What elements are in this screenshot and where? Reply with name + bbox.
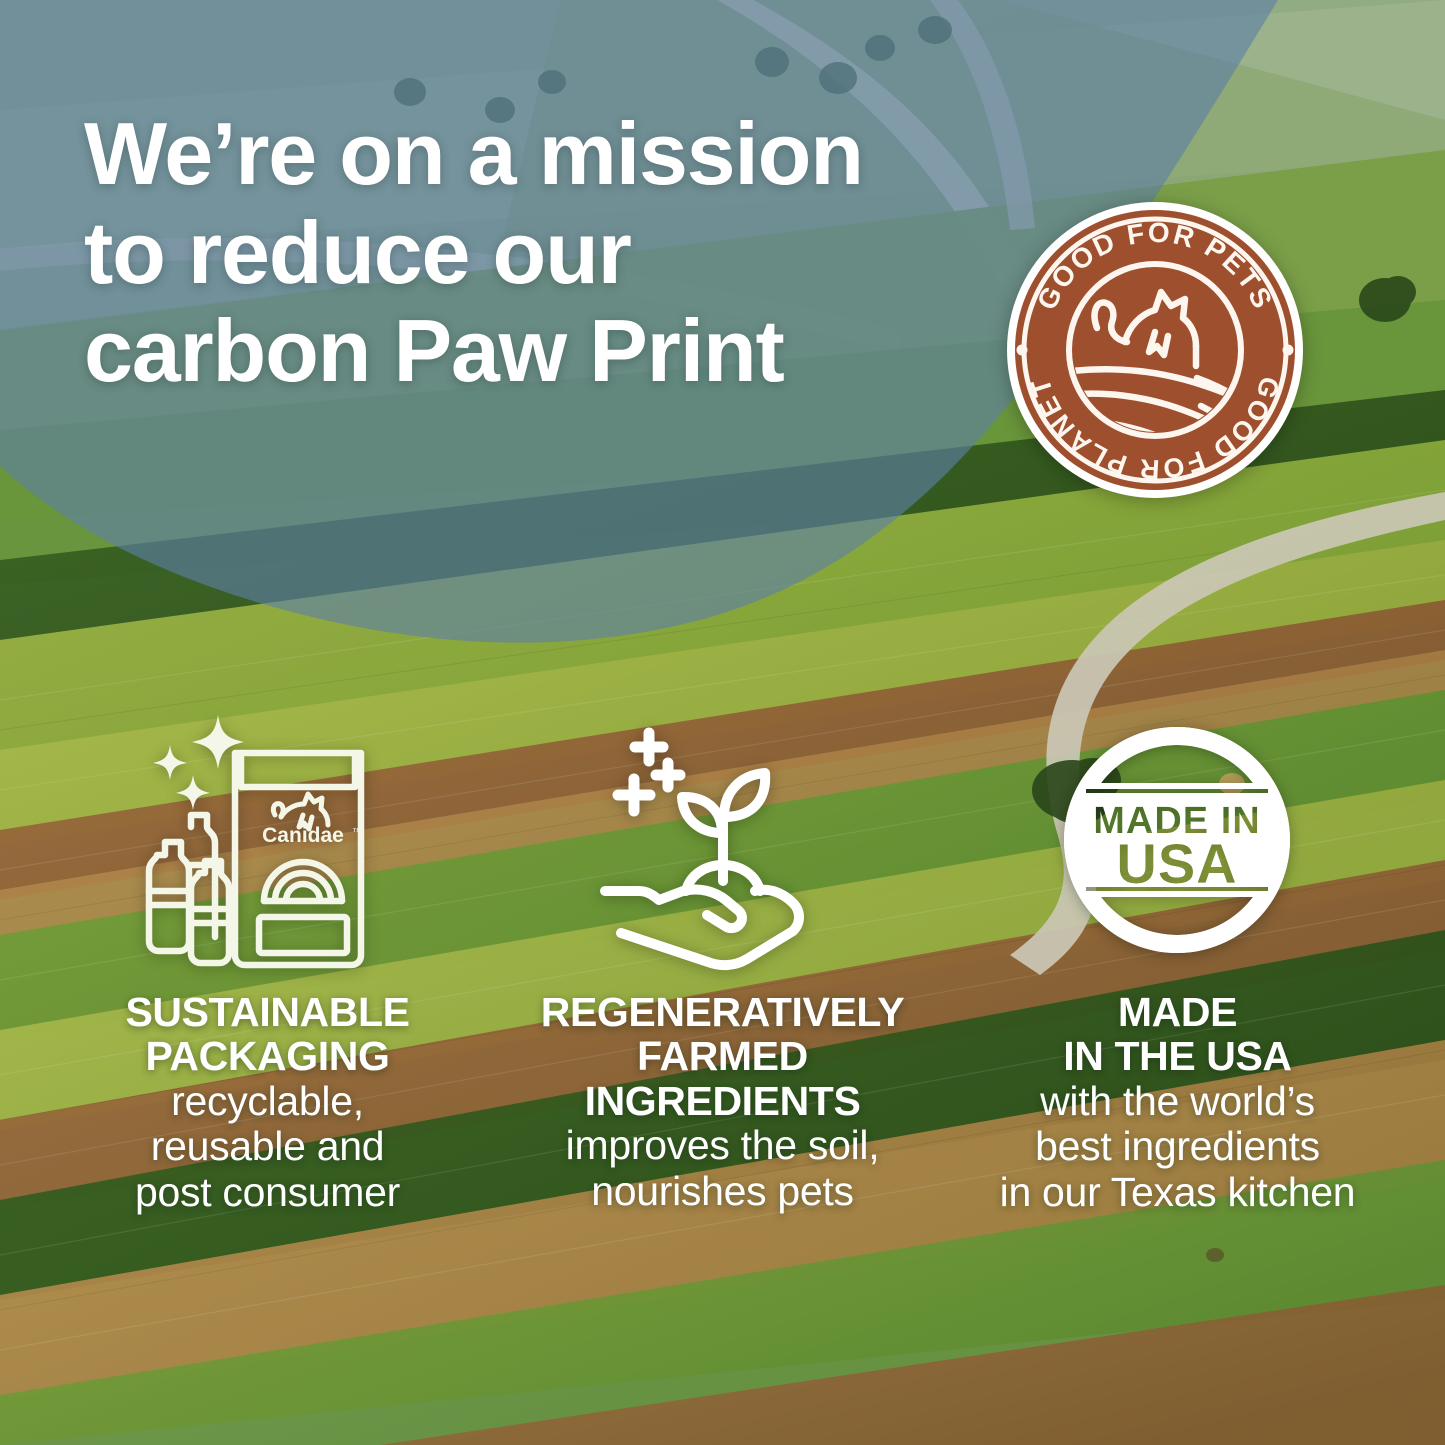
feature-title-1: SUSTAINABLE PACKAGING [125,990,409,1079]
svg-text:™: ™ [352,827,362,838]
headline-line-1: We’re on a mission [84,105,984,204]
feature-column-made-in-usa: MADE IN USA MADE IN THE USA with the wor… [950,690,1405,1216]
feature-column-regeneratively-farmed: REGENERATIVELY FARMED INGREDIENTS improv… [495,690,950,1215]
made-in-usa-badge-icon: MADE IN USA [1052,690,1302,990]
promo-banner: We’re on a mission to reduce our carbon … [0,0,1445,1445]
canidae-wordmark: Canidae [262,824,344,847]
sustainable-packaging-icon: Canidae ™ [123,690,413,990]
feature-title-2: REGENERATIVELY FARMED INGREDIENTS [541,990,904,1123]
feature-body-3: with the world’s best ingredients in our… [1000,1079,1356,1217]
sparkle-small [176,775,210,810]
feature-body-1: recyclable, reusable and post consumer [125,1079,409,1217]
hand-holding-seedling-icon [587,690,857,990]
seal-dot-right [1283,345,1294,356]
sparkle-plus-group [618,733,680,811]
feature-columns: Canidae ™ SUSTAINABLE PACKAGING recyclab… [0,690,1445,1216]
feature-column-sustainable-packaging: Canidae ™ SUSTAINABLE PACKAGING recyclab… [40,690,495,1216]
headline-line-3: carbon Paw Print [84,302,984,401]
headline-line-2: to reduce our [84,204,984,303]
feature-body-2: improves the soil, nourishes pets [541,1123,904,1215]
good-for-pets-good-for-planet-seal: GOOD FOR PETS GOOD FOR PLANET [1005,200,1305,500]
sparkle-medium [153,745,187,780]
seal-dot-left [1017,345,1028,356]
feature-title-3: MADE IN THE USA [1000,990,1356,1079]
page-title: We’re on a mission to reduce our carbon … [84,105,984,401]
